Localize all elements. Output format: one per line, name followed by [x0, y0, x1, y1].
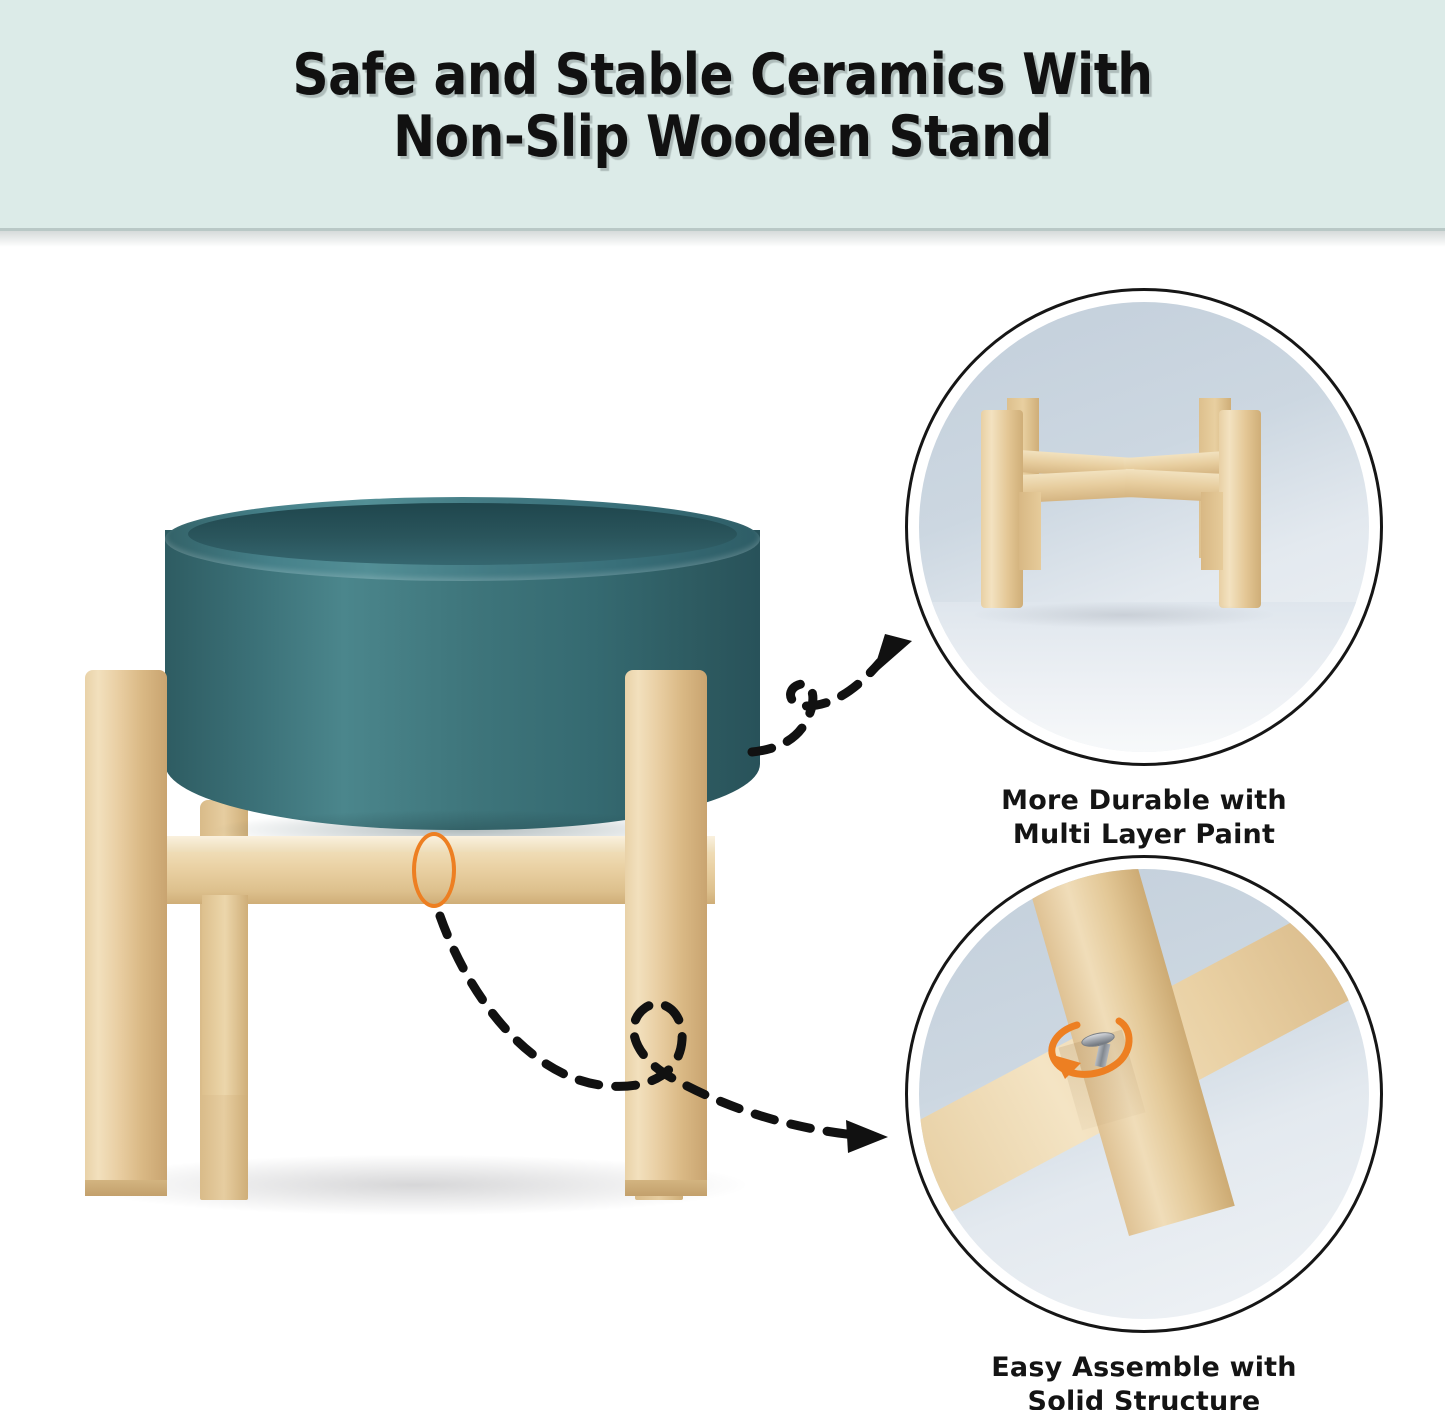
- infographic-page: Safe and Stable Ceramics With Non-Slip W…: [0, 0, 1445, 1410]
- joint-highlight-ellipse: [412, 832, 456, 908]
- callout-assembly-caption: Easy Assemble with Solid Structure: [905, 1351, 1383, 1410]
- page-title: Safe and Stable Ceramics With Non-Slip W…: [87, 44, 1359, 168]
- main-product-photo: [40, 440, 840, 1270]
- header-shadow: [0, 231, 1445, 247]
- callout-assembly-ring: [905, 855, 1383, 1333]
- callout-durability-caption: More Durable with Multi Layer Paint: [905, 784, 1383, 852]
- callout-durability-ring: [905, 288, 1383, 766]
